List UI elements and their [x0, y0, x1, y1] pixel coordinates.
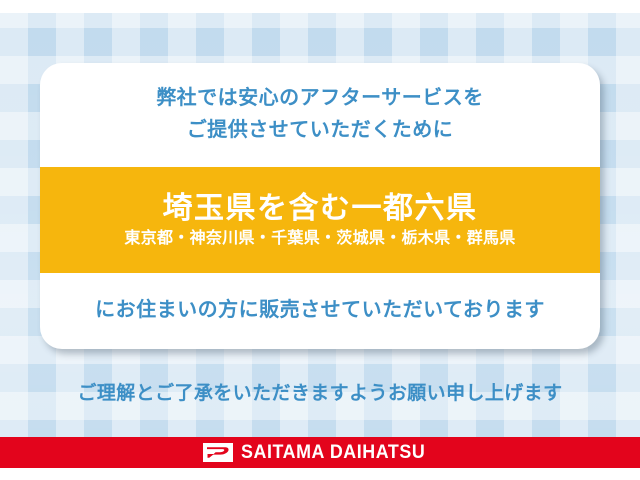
- notice-card: 弊社では安心のアフターサービスを ご提供させていただくために 埼玉県を含む一都六…: [40, 63, 600, 349]
- closing-line-below-card: ご理解とご了承をいただきますようお願い申し上げます: [0, 378, 640, 405]
- brand-banner: SAITAMA DAIHATSU: [0, 437, 640, 468]
- card-closing-section: にお住まいの方に販売させていただいております: [40, 273, 600, 349]
- brand-name: SAITAMA DAIHATSU: [241, 443, 425, 462]
- intro-line-1: 弊社では安心のアフターサービスを: [156, 87, 484, 111]
- card-intro-section: 弊社では安心のアフターサービスを ご提供させていただくために: [40, 63, 600, 167]
- closing-line-in-card: にお住まいの方に販売させていただいております: [95, 299, 545, 323]
- notice-image: 弊社では安心のアフターサービスを ご提供させていただくために 埼玉県を含む一都六…: [0, 0, 640, 480]
- bottom-white-strip: [0, 468, 640, 480]
- band-headline: 埼玉県を含む一都六県: [163, 192, 478, 227]
- prefecture-band: 埼玉県を含む一都六県 東京都・神奈川県・千葉県・茨城県・栃木県・群馬県: [40, 167, 600, 273]
- intro-line-2: ご提供させていただくために: [187, 119, 454, 143]
- band-prefecture-list: 東京都・神奈川県・千葉県・茨城県・栃木県・群馬県: [124, 229, 515, 248]
- daihatsu-logo-icon: [203, 443, 233, 462]
